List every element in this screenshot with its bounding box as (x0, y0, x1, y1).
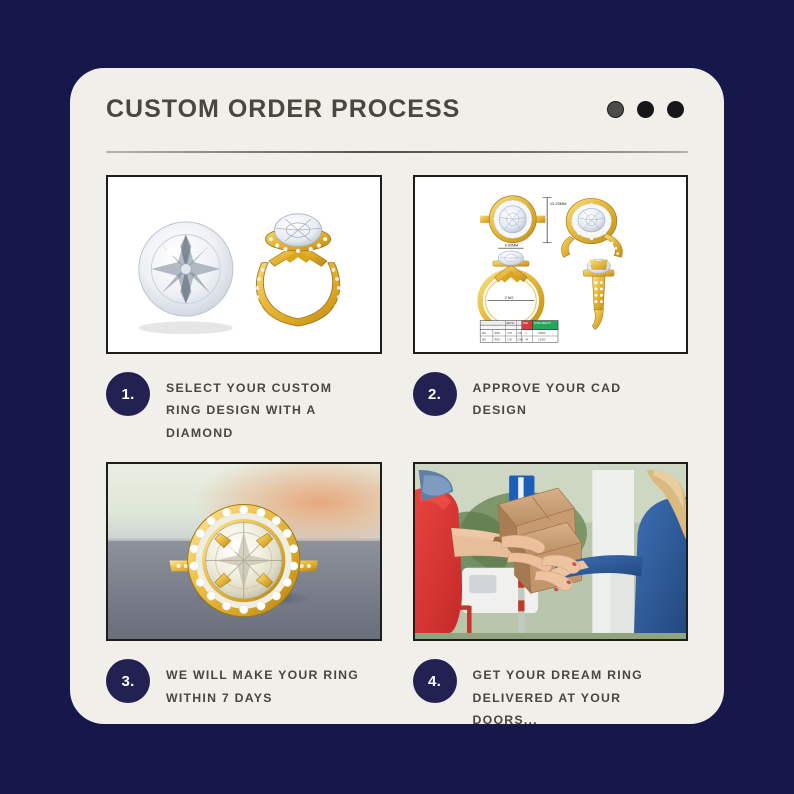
step-1-caption: 1. SELECT YOUR CUSTOM RING DESIGN WITH A… (106, 372, 382, 444)
diamond-ring-svg (108, 177, 380, 352)
finished-ring-svg (108, 464, 380, 639)
cad-table-cell-r1c4: 2.60 (517, 333, 522, 335)
finished-ring-photo (108, 464, 380, 639)
cad-sheet-svg: 13.20MM (415, 177, 687, 352)
cad-table-cell-r2c3: 1.00 (507, 340, 512, 342)
window-dot-2-icon[interactable] (637, 101, 654, 118)
page-title: CUSTOM ORDER PROCESS (106, 97, 460, 122)
step-1-image-frame[interactable] (106, 175, 382, 354)
delivery-photo (415, 464, 687, 639)
cad-spec-table: SET W. SIZE TOTAL WEIGHT DIA RND 3.75 2.… (480, 321, 558, 343)
card-header: CUSTOM ORDER PROCESS (106, 68, 688, 150)
cad-table-cell-r1c3: 3.75 (507, 333, 512, 335)
step-1-badge: 1. (106, 372, 150, 416)
step-2-image-frame[interactable]: 13.20MM (413, 175, 689, 354)
step-card-2[interactable]: 13.20MM (413, 175, 689, 444)
step-2-badge: 2. (413, 372, 457, 416)
step-3-caption: 3. WE WILL MAKE YOUR RING WITHIN 7 DAYS (106, 659, 382, 709)
step-card-1[interactable]: 1. SELECT YOUR CUSTOM RING DESIGN WITH A… (106, 175, 382, 444)
step-card-4[interactable]: 4. GET YOUR DREAM RING DELIVERED AT YOUR… (413, 462, 689, 731)
delivery-svg (415, 464, 687, 639)
step-3-text: WE WILL MAKE YOUR RING WITHIN 7 DAYS (166, 659, 371, 709)
cad-sheet-illustration: 13.20MM (415, 177, 687, 352)
step-3-image-frame[interactable] (106, 462, 382, 641)
step-2-caption: 2. APPROVE YOUR CAD DESIGN (413, 372, 689, 422)
cad-table-cell-r2c6: 0.2200 (538, 340, 546, 342)
step-2-text: APPROVE YOUR CAD DESIGN (473, 372, 678, 422)
cad-dimension-label-1: 13.20MM (549, 201, 566, 206)
step-card-3[interactable]: 3. WE WILL MAKE YOUR RING WITHIN 7 DAYS (106, 462, 382, 731)
poster-canvas: CUSTOM ORDER PROCESS (0, 0, 794, 794)
step-4-badge: 4. (413, 659, 457, 703)
window-dot-3-icon[interactable] (667, 101, 684, 118)
cad-dimension-label-2: 8.00MM (504, 243, 518, 247)
step-4-text: GET YOUR DREAM RING DELIVERED AT YOUR DO… (473, 659, 678, 731)
cad-table-cell-r2c4: 0.005 (517, 340, 524, 342)
cad-table-cell-r2c1: DIA (481, 339, 485, 342)
header-divider (106, 151, 688, 153)
cad-table-header-1: SET W. (506, 323, 514, 325)
diamond-and-ring-illustration (108, 177, 380, 352)
window-dot-1-icon[interactable] (607, 101, 624, 118)
cad-table-cell-r2c2: RND (494, 340, 499, 342)
cad-dimension-label-3: 2 NO (504, 296, 513, 300)
cad-table-cell-r1c2: RND (494, 333, 499, 335)
step-4-caption: 4. GET YOUR DREAM RING DELIVERED AT YOUR… (413, 659, 689, 731)
step-4-image-frame[interactable] (413, 462, 689, 641)
cad-table-header-2: SIZE (522, 323, 528, 325)
cad-table-cell-r1c1: DIA (481, 332, 485, 335)
cad-table-header-3: TOTAL WEIGHT (533, 322, 551, 325)
process-card: CUSTOM ORDER PROCESS (70, 68, 724, 724)
step-3-badge: 3. (106, 659, 150, 703)
cad-table-cell-r1c6: 0.9000 (538, 333, 546, 335)
step-1-text: SELECT YOUR CUSTOM RING DESIGN WITH A DI… (166, 372, 371, 444)
steps-grid: 1. SELECT YOUR CUSTOM RING DESIGN WITH A… (106, 175, 688, 731)
window-dots (607, 101, 688, 118)
